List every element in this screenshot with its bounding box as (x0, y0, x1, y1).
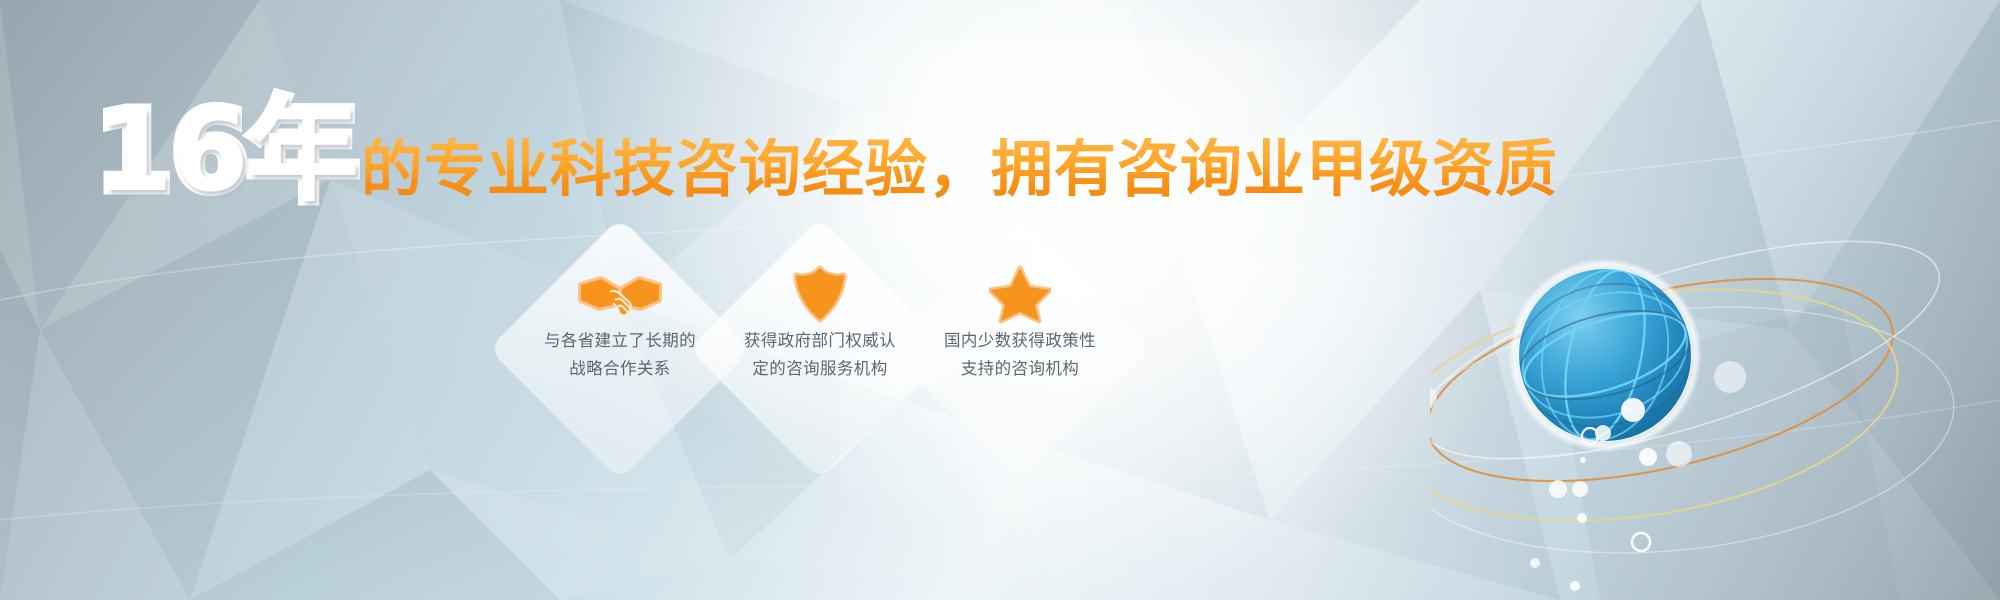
feature-card[interactable]: 国内少数获得政策性 支持的咨询机构 (895, 224, 1145, 474)
feature-cards: 与各省建立了长期的 战略合作关系 获得政府部门权威认 定的咨询服务机构 (495, 224, 1135, 474)
feature-card-text: 国内少数获得政策性 支持的咨询机构 (895, 327, 1145, 383)
feature-card-line2: 支持的咨询机构 (895, 355, 1145, 383)
feature-card-line1: 国内少数获得政策性 (895, 327, 1145, 355)
headline-years: 16年 (95, 96, 357, 208)
promo-banner: 16年 的专业科技咨询经验，拥有咨询业甲级资质 (0, 0, 2000, 600)
star-icon (895, 264, 1145, 324)
globe-network-graphic (1430, 230, 2000, 600)
headline-rest: 的专业科技咨询经验，拥有咨询业甲级资质 (361, 138, 1558, 200)
headline: 16年 的专业科技咨询经验，拥有咨询业甲级资质 (95, 96, 1925, 206)
